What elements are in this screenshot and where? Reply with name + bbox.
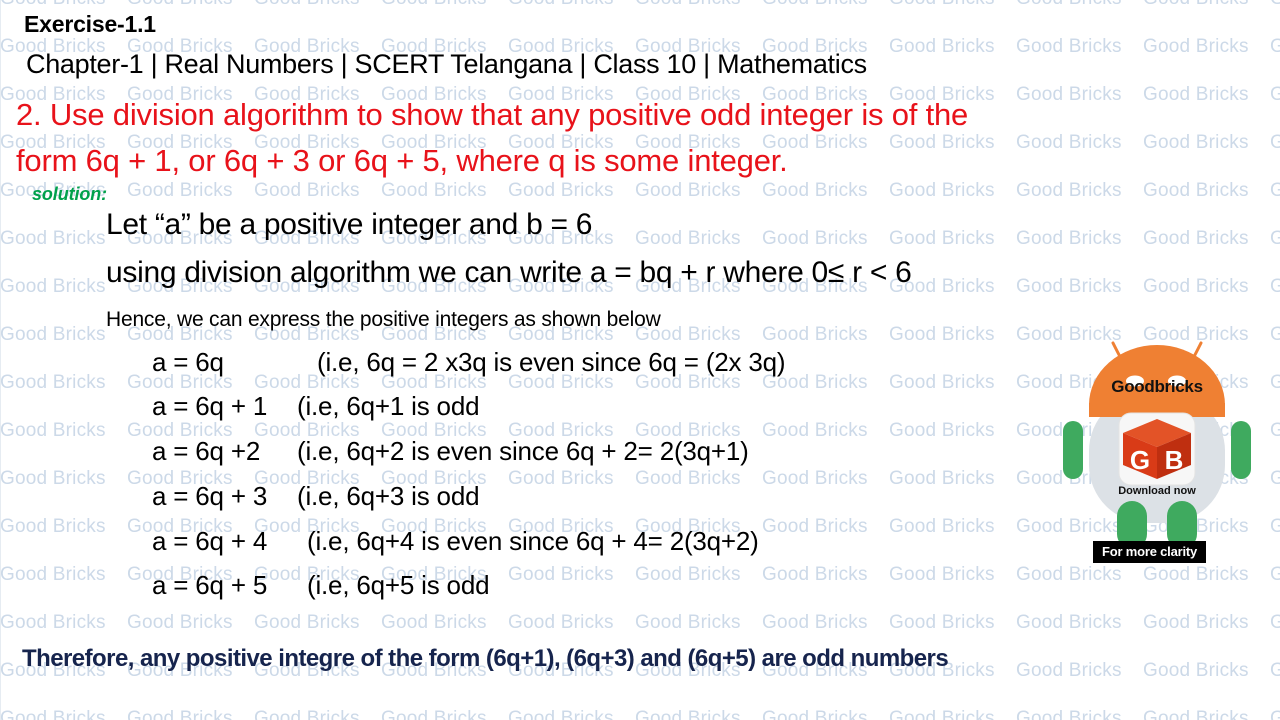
equation-lhs: a = 6q +2 — [152, 436, 297, 467]
conclusion-text: Therefore, any positive integre of the f… — [22, 645, 1270, 673]
solution-label: solution: — [32, 184, 107, 205]
equation-row: a = 6q +2(i.e, 6q+2 is even since 6q + 2… — [152, 436, 749, 467]
solution-let-line: Let “a” be a positive integer and b = 6 — [106, 208, 592, 242]
svg-text:G: G — [1130, 445, 1150, 475]
equation-row: a = 6q + 5(i.e, 6q+5 is odd — [152, 570, 489, 601]
equation-row: a = 6q + 3(i.e, 6q+3 is odd — [152, 481, 479, 512]
equation-rhs: (i.e, 6q+1 is odd — [297, 391, 479, 422]
for-more-clarity-badge[interactable]: For more clarity — [1093, 541, 1206, 563]
equation-rhs: (i.e, 6q = 2 x3q is even since 6q = (2x … — [317, 347, 785, 378]
equation-lhs: a = 6q + 4 — [152, 526, 307, 557]
question-text-line-2: form 6q + 1, or 6q + 3 or 6q + 5, where … — [16, 138, 1272, 184]
equation-lhs: a = 6q + 3 — [152, 481, 297, 512]
solution-division-algorithm-line: using division algorithm we can write a … — [106, 256, 911, 290]
equation-rhs: (i.e, 6q+4 is even since 6q + 4= 2(3q+2) — [307, 526, 759, 557]
breadcrumb: Chapter-1 | Real Numbers | SCERT Telanga… — [26, 49, 867, 80]
page-title: Exercise-1.1 — [24, 11, 156, 38]
equation-row: a = 6q + 1(i.e, 6q+1 is odd — [152, 391, 479, 422]
solution-hence-line: Hence, we can express the positive integ… — [106, 308, 661, 332]
equation-lhs: a = 6q + 1 — [152, 391, 297, 422]
equation-row: a = 6q + 4(i.e, 6q+4 is even since 6q + … — [152, 526, 759, 557]
equation-rhs: (i.e, 6q+3 is odd — [297, 481, 479, 512]
svg-text:B: B — [1165, 445, 1184, 475]
brand-name: Goodbricks — [1057, 377, 1257, 397]
equation-lhs: a = 6q + 5 — [152, 570, 307, 601]
android-mascot-icon: G B — [1057, 333, 1257, 565]
equation-rhs: (i.e, 6q+2 is even since 6q + 2= 2(3q+1) — [297, 436, 749, 467]
download-now-label[interactable]: Download now — [1057, 485, 1257, 497]
equation-rhs: (i.e, 6q+5 is odd — [307, 570, 489, 601]
equation-lhs: a = 6q — [152, 347, 317, 378]
goodbricks-mascot-logo[interactable]: G B Goodbricks Download now For more cla… — [1057, 333, 1257, 565]
equation-row: a = 6q(i.e, 6q = 2 x3q is even since 6q … — [152, 347, 785, 378]
question-text-line-1: 2. Use division algorithm to show that a… — [16, 92, 1272, 138]
